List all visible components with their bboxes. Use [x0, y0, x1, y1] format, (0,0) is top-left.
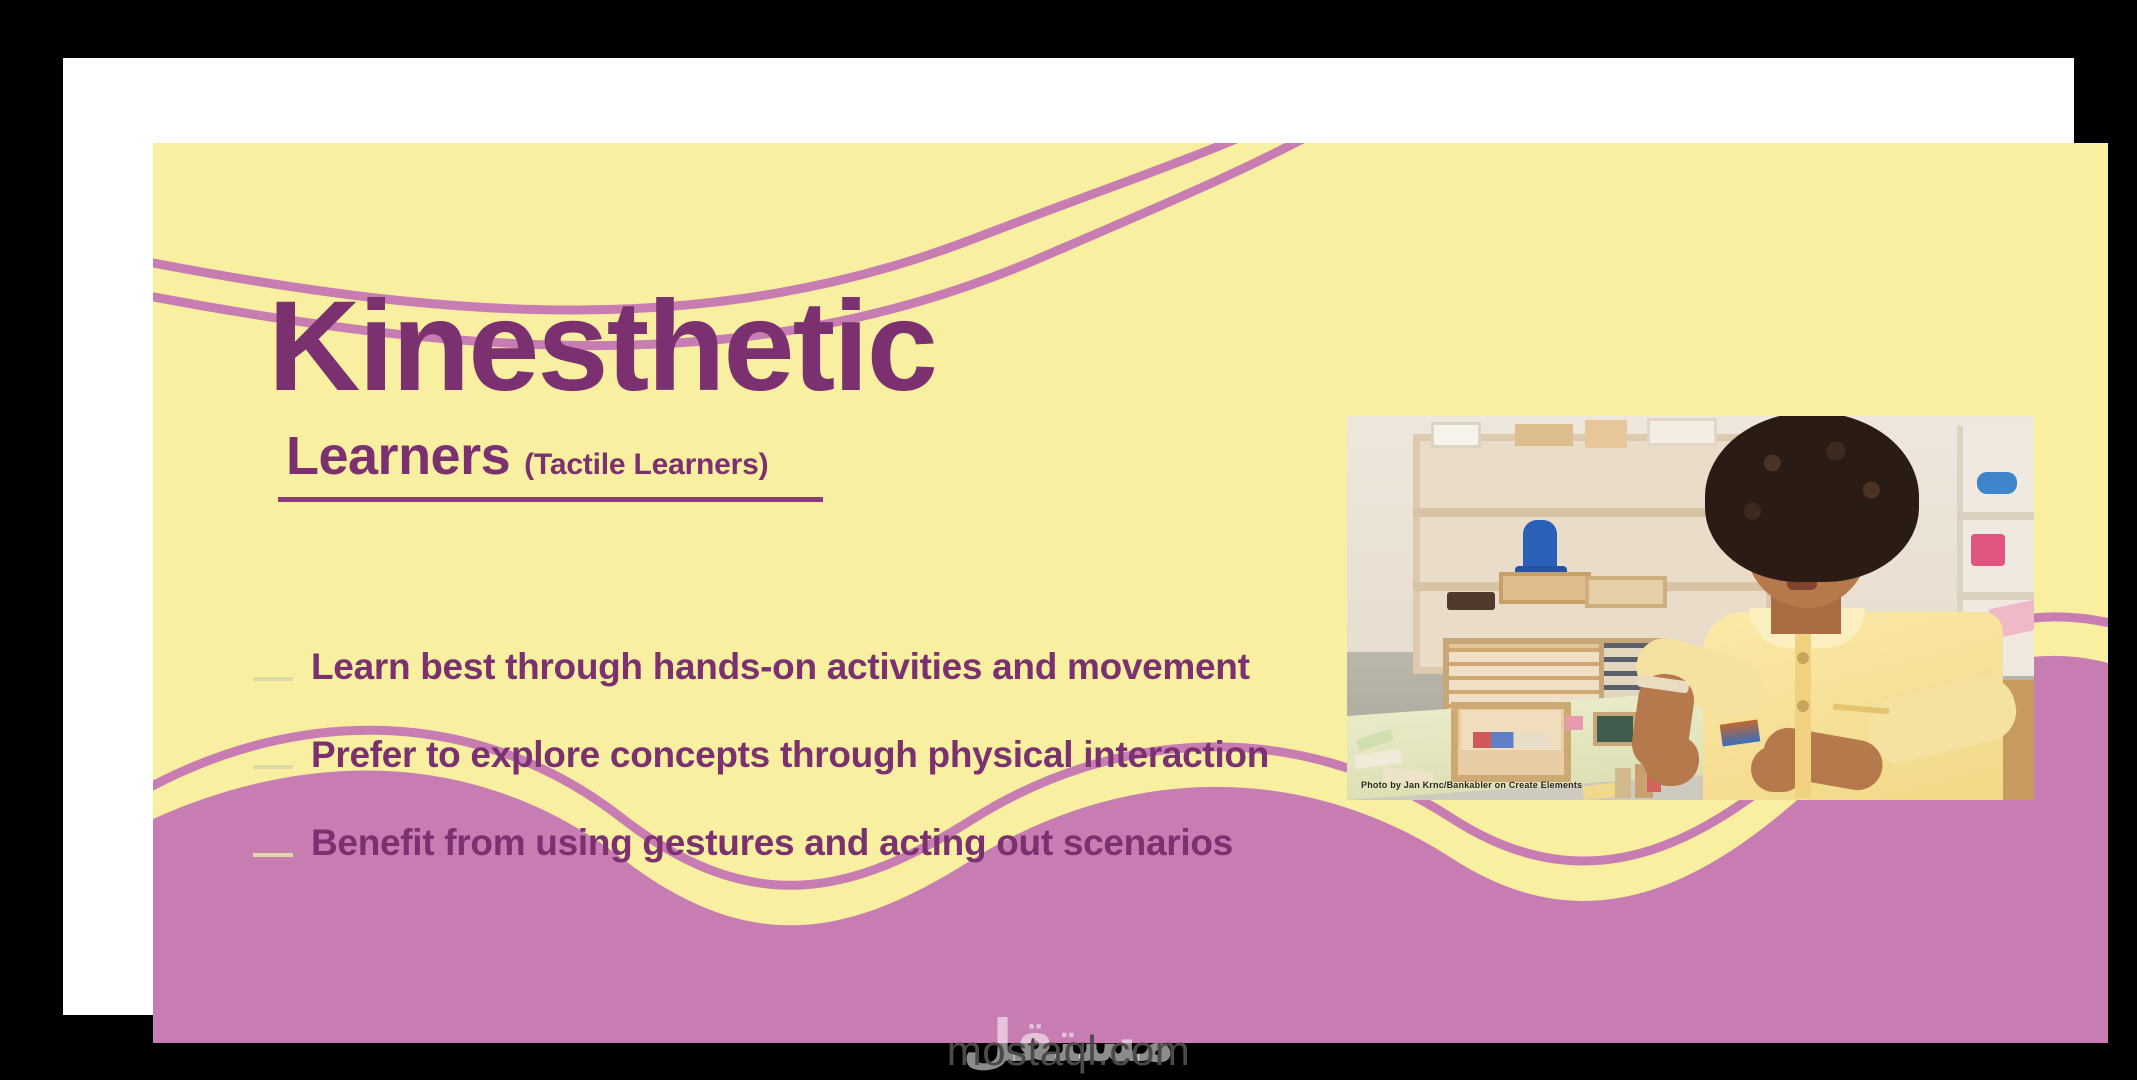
headline-block: Kinesthetic Learners (Tactile Learners)	[268, 283, 1268, 502]
list-item: Benefit from using gestures and acting o…	[253, 799, 1393, 887]
bullet-text: Benefit from using gestures and acting o…	[311, 822, 1233, 864]
screenshot-stage: Kinesthetic Learners (Tactile Learners) …	[0, 0, 2137, 1080]
slide-white-frame: Kinesthetic Learners (Tactile Learners) …	[63, 58, 2074, 1015]
photo-tile	[1565, 716, 1583, 730]
photo-wooden-tray	[1585, 576, 1667, 608]
dash-marker-icon	[253, 765, 293, 769]
photo-box-cards	[1473, 732, 1547, 748]
photo-tile	[1615, 768, 1631, 798]
subtitle-main: Learners	[286, 425, 510, 487]
photo-right-shelf-board	[1957, 592, 2034, 600]
photo-child-hair-texture	[1713, 418, 1911, 568]
subtitle-row: Learners (Tactile Learners)	[286, 425, 1268, 487]
presentation-slide: Kinesthetic Learners (Tactile Learners) …	[153, 143, 2108, 1043]
list-item: Prefer to explore concepts through physi…	[253, 711, 1393, 799]
watermark-domain-band: mostaql.com	[0, 1022, 2137, 1080]
bullet-text: Learn best through hands-on activities a…	[311, 646, 1250, 688]
dash-marker-icon	[253, 677, 293, 681]
photo-right-shelf-item	[1977, 472, 2017, 494]
title-underline	[278, 497, 823, 502]
classroom-photo: Photo by Jan Krnc/Bankabler on Create El…	[1347, 416, 2034, 800]
subtitle-parenthetical: (Tactile Learners)	[524, 448, 768, 482]
photo-wooden-tray	[1499, 572, 1591, 604]
photo-right-shelf-board	[1957, 512, 2034, 520]
list-item: Learn best through hands-on activities a…	[253, 623, 1393, 711]
photo-shirt-button	[1797, 700, 1809, 712]
photo-shelf-item	[1515, 424, 1573, 446]
watermark-domain-text: mostaql.com	[947, 1027, 1191, 1075]
photo-shelf-item	[1431, 422, 1481, 448]
photo-credit: Photo by Jan Krnc/Bankabler on Create El…	[1361, 780, 1582, 790]
bullet-list: Learn best through hands-on activities a…	[253, 623, 1393, 887]
photo-right-shelf-item	[1971, 534, 2005, 566]
page-title: Kinesthetic	[268, 283, 1268, 411]
photo-tile	[1593, 712, 1637, 746]
dash-marker-icon	[253, 853, 293, 857]
bullet-text: Prefer to explore concepts through physi…	[311, 734, 1269, 776]
photo-dark-block	[1447, 592, 1495, 610]
photo-child-hand-left	[1643, 736, 1699, 786]
photo-shelf-item	[1647, 418, 1717, 446]
photo-shelf-item	[1585, 420, 1627, 448]
photo-shirt-button	[1797, 652, 1809, 664]
